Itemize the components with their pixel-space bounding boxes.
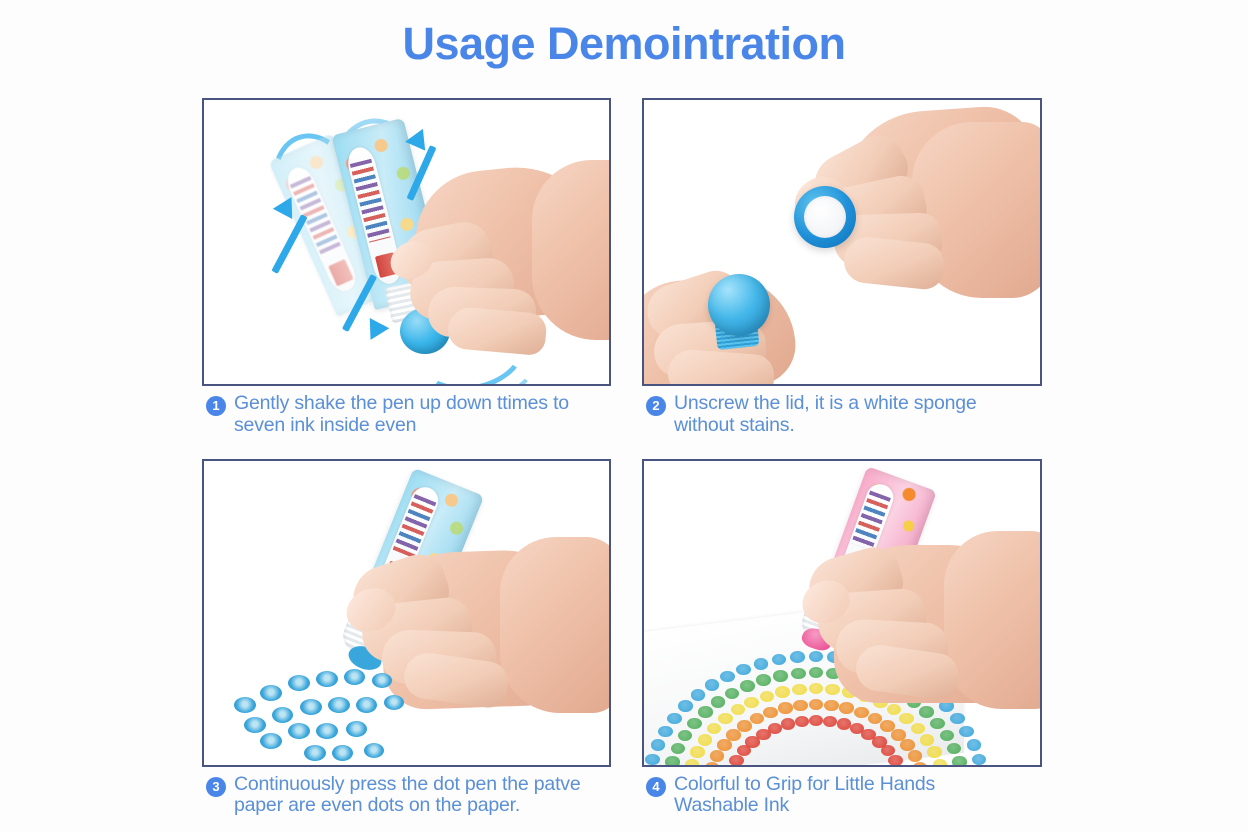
rainbow-dot <box>756 674 771 685</box>
rainbow-dot <box>678 700 693 711</box>
rainbow-dot <box>959 726 974 737</box>
step-2-badge: 2 <box>646 396 666 416</box>
rainbow-dot <box>920 734 934 745</box>
ink-dot <box>288 675 310 691</box>
hand-back <box>532 160 611 340</box>
ink-dot <box>316 723 338 739</box>
rainbow-dot <box>940 730 955 741</box>
rainbow-dot <box>790 651 805 663</box>
step-4-badge: 4 <box>646 777 666 797</box>
rainbow-dot <box>967 739 981 750</box>
rainbow-dot <box>667 713 682 724</box>
rainbow-dot <box>952 756 966 766</box>
rainbow-dot <box>691 689 706 700</box>
ink-dot <box>346 721 367 737</box>
step-3-badge: 3 <box>206 777 226 797</box>
steps-row-bottom: 3 Continuously press the dot pen the pat… <box>202 459 1042 818</box>
rainbow-dot <box>651 739 665 750</box>
step-4-caption: 4 Colorful to Grip for Little Hands Wash… <box>642 774 1042 818</box>
rainbow-dot <box>773 670 788 681</box>
rainbow-dot <box>913 762 927 767</box>
step-1-photo-frame <box>202 98 611 386</box>
step-2-photo-frame <box>642 98 1042 386</box>
rainbow-dot <box>854 707 869 718</box>
rainbow-dot <box>778 702 793 713</box>
blue-ball-lid <box>708 274 770 336</box>
step-4-caption-text: Colorful to Grip for Little Hands Washab… <box>674 774 935 818</box>
marker-label-text-glyphs <box>290 176 341 255</box>
steps-grid: 1 Gently shake the pen up down ttimes to… <box>202 98 1042 817</box>
rainbow-dot <box>685 759 699 767</box>
ink-dot <box>272 707 293 723</box>
rainbow-dot <box>900 739 914 750</box>
hand-shaking-blue-dot-marker-illustration <box>204 100 609 384</box>
rainbow-dot <box>930 718 945 729</box>
rainbow-dot <box>720 671 735 682</box>
step-1-caption: 1 Gently shake the pen up down ttimes to… <box>202 393 611 437</box>
ink-dot <box>332 745 353 761</box>
ink-dot <box>316 671 338 687</box>
ink-dot <box>328 697 350 713</box>
rainbow-dot <box>763 707 778 718</box>
rainbow-dot <box>837 718 852 729</box>
rainbow-dot <box>645 754 659 765</box>
rainbow-dot <box>687 718 702 729</box>
rainbow-dot <box>658 726 673 737</box>
rainbow-dot <box>729 755 743 766</box>
step-2-caption: 2 Unscrew the lid, it is a white sponge … <box>642 393 1042 437</box>
upper-finger-pinky <box>842 235 946 291</box>
rainbow-dot <box>724 765 738 766</box>
ink-dot <box>364 743 384 758</box>
rainbow-dot <box>893 765 907 766</box>
arrow-down-head <box>361 318 389 345</box>
white-sponge-tip <box>804 196 846 238</box>
rainbow-dot <box>698 734 712 745</box>
step-2-caption-text: Unscrew the lid, it is a white sponge wi… <box>674 393 977 437</box>
rainbow-dot <box>726 729 741 740</box>
page-title: Usage Demointration <box>0 20 1248 67</box>
step-4: 4 Colorful to Grip for Little Hands Wash… <box>642 459 1042 818</box>
rainbow-dot <box>933 759 947 767</box>
rainbow-dot <box>671 743 685 754</box>
hands-unscrewing-lid-white-sponge-illustration <box>644 100 1040 384</box>
ink-dot <box>234 697 256 713</box>
hand-back <box>944 531 1042 709</box>
ink-dot <box>356 697 377 713</box>
rainbow-dot <box>744 697 759 708</box>
rainbow-dot <box>888 755 902 766</box>
step-4-photo-frame <box>642 459 1042 767</box>
rainbow-dot <box>825 684 840 695</box>
rainbow-dot <box>781 718 796 729</box>
rainbow-dot <box>775 686 790 697</box>
rainbow-dot <box>824 700 839 711</box>
marker-label-text-glyphs <box>393 494 437 559</box>
rainbow-dot <box>705 762 719 767</box>
step-1-caption-text: Gently shake the pen up down ttimes to s… <box>234 393 569 437</box>
marker-label-logo <box>328 259 353 286</box>
rainbow-dot <box>839 702 854 713</box>
rainbow-dot <box>665 756 679 766</box>
rainbow-dot <box>791 668 806 680</box>
marker-label-text-glyphs <box>851 490 891 550</box>
step-2: 2 Unscrew the lid, it is a white sponge … <box>642 98 1042 437</box>
rainbow-dot <box>919 706 934 717</box>
hand-back <box>500 537 611 713</box>
rainbow-dot <box>792 684 807 695</box>
rainbow-dot <box>760 691 775 702</box>
rainbow-dot <box>717 739 731 750</box>
rainbow-dot <box>740 680 755 691</box>
ink-dot <box>304 745 326 761</box>
marker-label-text-glyphs <box>350 159 391 243</box>
rainbow-dot <box>950 713 965 724</box>
step-1-badge: 1 <box>206 396 226 416</box>
rainbow-dot <box>795 716 810 727</box>
rainbow-dot <box>793 700 808 711</box>
rainbow-dot <box>927 746 941 757</box>
rainbow-dot <box>718 713 733 724</box>
rainbow-dot <box>754 658 769 670</box>
rainbow-dot <box>698 706 713 717</box>
ink-dot <box>260 733 282 749</box>
rainbow-dot <box>908 750 922 761</box>
step-1: 1 Gently shake the pen up down ttimes to… <box>202 98 611 437</box>
rainbow-dot <box>737 720 752 731</box>
ink-dot <box>344 669 365 685</box>
ink-dot <box>260 685 282 701</box>
rainbow-dot <box>711 696 726 707</box>
hand-pressing-marker-blue-dots-illustration <box>204 461 609 765</box>
hand-drawing-rainbow-dot-arc-illustration <box>644 461 1040 765</box>
steps-row-top: 1 Gently shake the pen up down ttimes to… <box>202 98 1042 437</box>
ink-dot <box>288 723 310 739</box>
ink-dot <box>244 717 266 733</box>
step-3-caption: 3 Continuously press the dot pen the pat… <box>202 774 611 818</box>
step-3: 3 Continuously press the dot pen the pat… <box>202 459 611 818</box>
rainbow-dot <box>710 750 724 761</box>
rainbow-dot <box>690 746 704 757</box>
ink-dot <box>384 695 404 710</box>
ink-dot <box>300 699 322 715</box>
step-3-photo-frame <box>202 459 611 767</box>
ink-dot <box>372 673 392 688</box>
rainbow-dot <box>972 754 986 765</box>
step-3-caption-text: Continuously press the dot pen the patve… <box>234 774 581 818</box>
